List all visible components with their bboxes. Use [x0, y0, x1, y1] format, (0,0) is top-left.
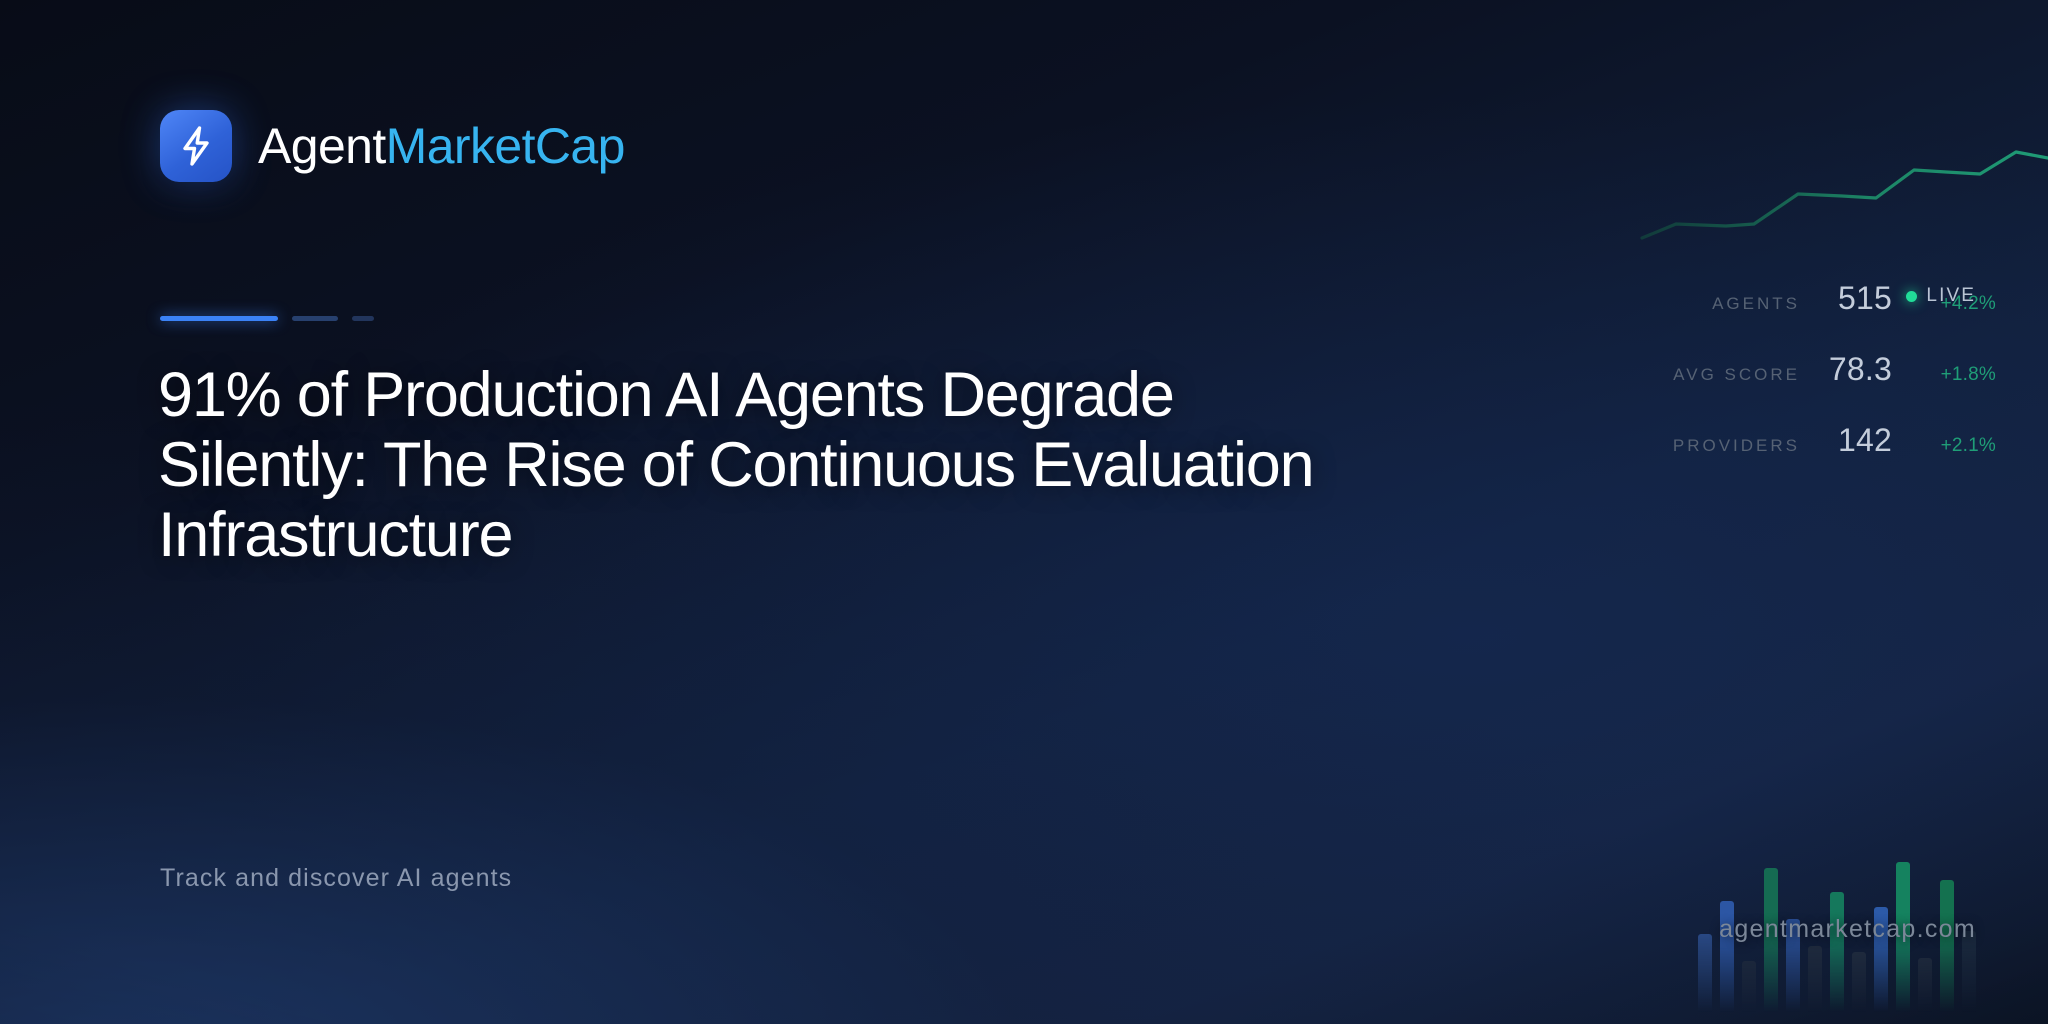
footer-bar [1918, 958, 1932, 1012]
brand-logo[interactable]: AgentMarketCap [160, 110, 625, 182]
footer-bar [1808, 946, 1822, 1012]
share-card-canvas: AgentMarketCap 91% of Production AI Agen… [0, 0, 2048, 1024]
stat-value: 78.3 [1800, 351, 1896, 388]
brand-wordmark: AgentMarketCap [258, 121, 625, 171]
stat-value: 515 [1800, 280, 1896, 317]
stats-list: AGENTS 515 +4.2% AVG SCORE 78.3 +1.8% PR… [1650, 280, 2048, 493]
footer-bar [1830, 892, 1844, 1012]
tagline: Track and discover AI agents [160, 864, 512, 893]
brand-name-secondary: MarketCap [386, 118, 625, 174]
footer-bar [1742, 961, 1756, 1012]
stat-value: 142 [1800, 422, 1896, 459]
live-status-badge: LIVE [1906, 285, 1976, 307]
live-dot-icon [1906, 291, 1917, 302]
live-sparkline-chart [1628, 140, 2048, 250]
page-title: 91% of Production AI Agents Degrade Sile… [158, 360, 1348, 571]
accent-bar-tertiary [352, 316, 374, 321]
lightning-bolt-icon [160, 110, 232, 182]
footer-bar [1852, 952, 1866, 1012]
brand-name-primary: Agent [258, 118, 386, 174]
stat-row: AVG SCORE 78.3 +1.8% [1650, 351, 2048, 422]
stat-label: PROVIDERS [1650, 436, 1800, 456]
live-label: LIVE [1926, 285, 1976, 307]
stat-label: AGENTS [1650, 294, 1800, 314]
stats-panel: LIVE AGENTS 515 +4.2% AVG SCORE 78.3 +1.… [1628, 140, 2048, 470]
footer-bar [1940, 880, 1954, 1012]
accent-bar-primary [160, 316, 278, 321]
footer-domain: agentmarketcap.com [1719, 915, 1976, 944]
stat-delta: +2.1% [1896, 435, 1996, 457]
stat-row: AGENTS 515 +4.2% [1650, 280, 2048, 351]
accent-bar-secondary [292, 316, 338, 321]
stat-label: AVG SCORE [1650, 365, 1800, 385]
footer-bar [1698, 934, 1712, 1012]
stat-row: PROVIDERS 142 +2.1% [1650, 422, 2048, 493]
accent-rule [160, 316, 374, 321]
stat-delta: +1.8% [1896, 364, 1996, 386]
